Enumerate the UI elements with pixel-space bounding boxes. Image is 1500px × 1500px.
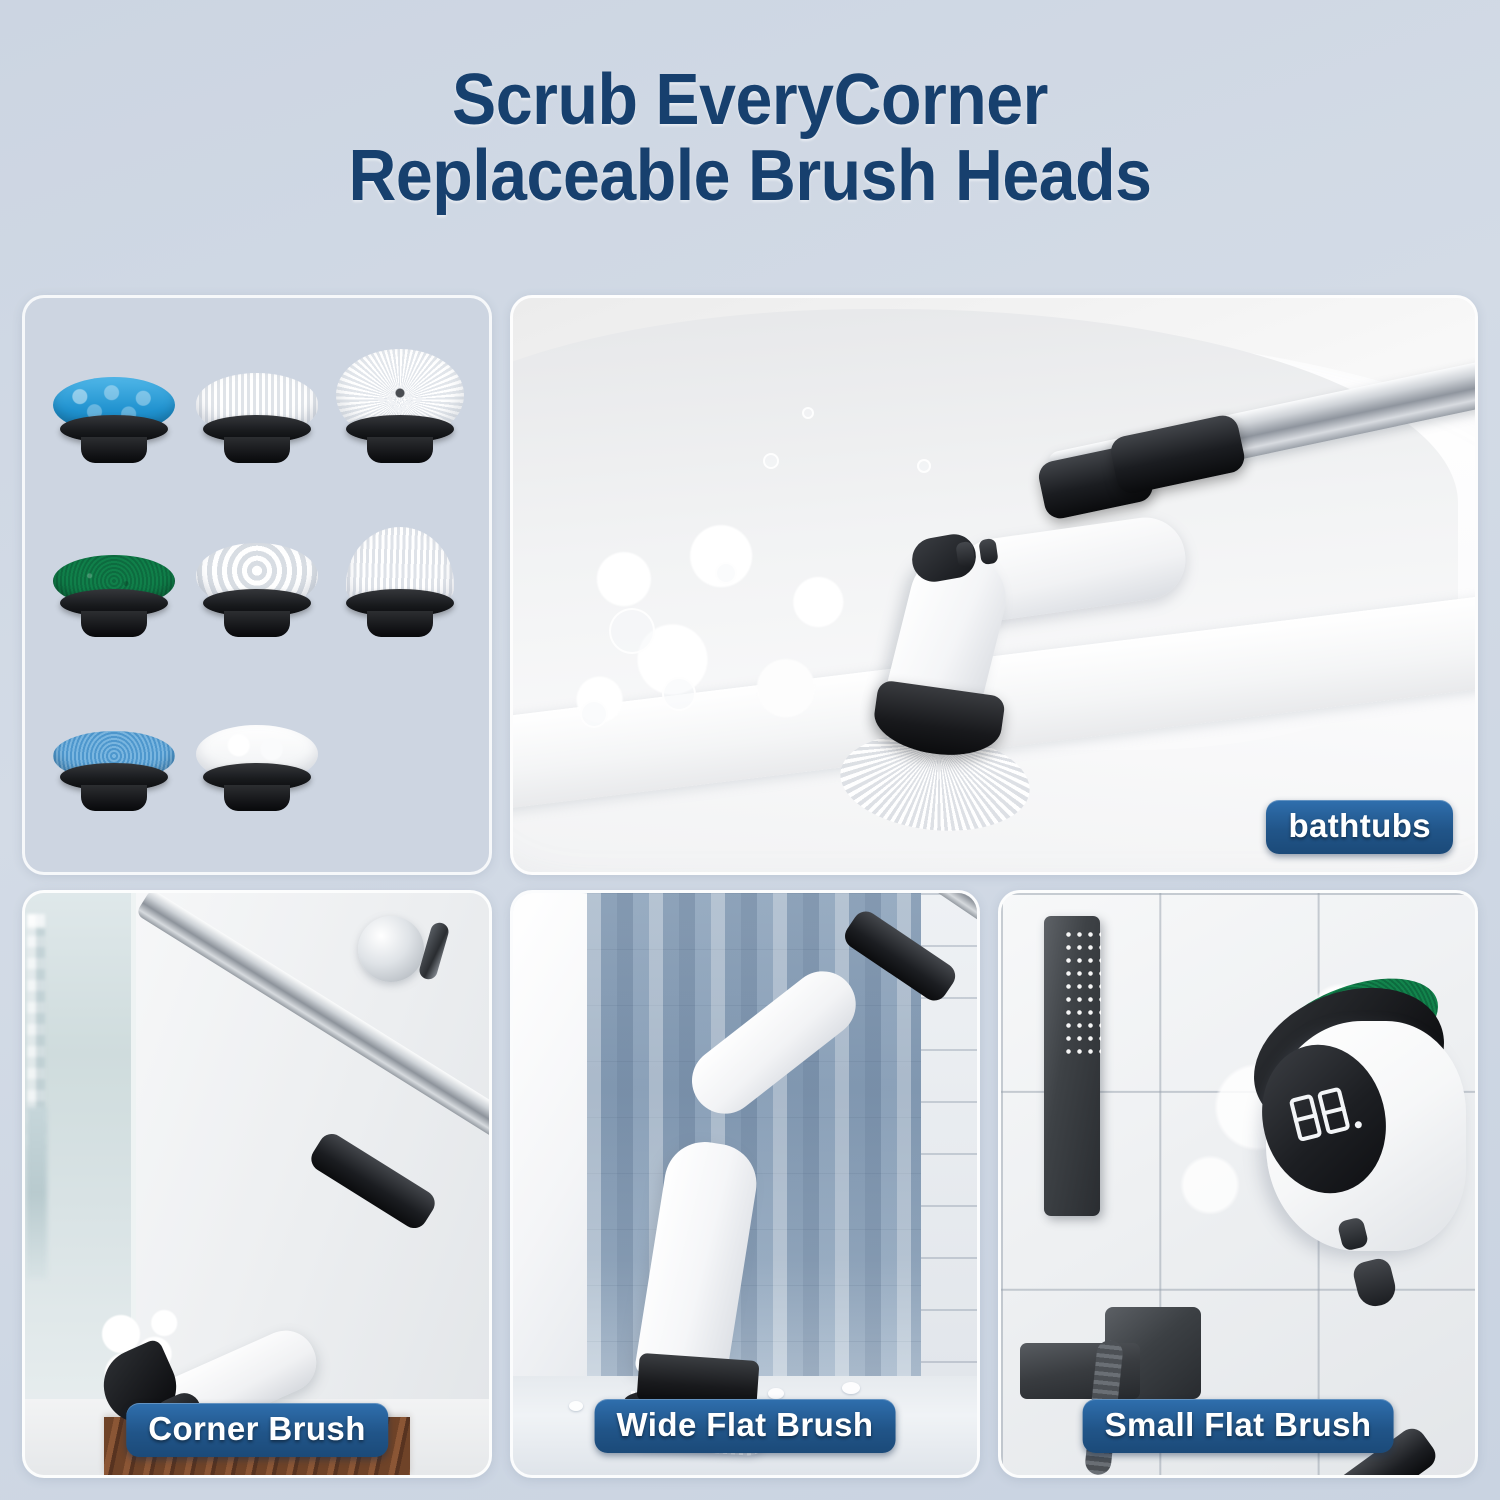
mount-hub <box>81 611 147 637</box>
foam-bubble <box>802 407 814 419</box>
mount-hub <box>367 611 433 637</box>
panel-wide-flat-brush: Wide Flat Brush <box>510 890 980 1478</box>
badge-corner-brush: Corner Brush <box>126 1403 388 1457</box>
foam-bubble <box>580 700 608 728</box>
chrome-valve-plate <box>358 916 424 982</box>
mount-hub <box>224 785 290 811</box>
page-title: Scrub EveryCorner Replaceable Brush Head… <box>0 62 1500 215</box>
headline-line-1: Scrub EveryCorner <box>60 62 1440 138</box>
badge-bathtubs: bathtubs <box>1266 800 1453 854</box>
brush-head-green-scour-pad <box>43 498 186 672</box>
mount-hub <box>224 437 290 463</box>
brush-head-white-spiral-brush <box>186 498 329 672</box>
brush-head-white-wool-pad <box>186 672 329 846</box>
brush-head-blue-microfiber-pad <box>43 672 186 846</box>
device-button-speed[interactable] <box>978 538 998 565</box>
foam-bubble <box>609 608 655 654</box>
segment-digit-2 <box>1316 1087 1350 1135</box>
badge-small-flat-brush: Small Flat Brush <box>1083 1399 1394 1453</box>
mount-hub <box>224 611 290 637</box>
panel-corner-brush: Corner Brush <box>22 890 492 1478</box>
window-lower-view <box>26 1107 47 1278</box>
brush-head-white-cone-brush <box>328 498 471 672</box>
segment-digit-1 <box>1288 1094 1322 1142</box>
shower-head-nozzle-holes <box>1063 928 1101 1056</box>
brush-head-white-flat-brush <box>186 324 329 498</box>
foam-bubble <box>763 453 779 469</box>
bathroom-wall <box>513 893 597 1382</box>
badge-wide-flat-brush: Wide Flat Brush <box>595 1399 896 1453</box>
brush-head-empty-slot <box>328 672 471 846</box>
foam-bubble <box>662 677 696 711</box>
foam-bubble <box>715 562 737 584</box>
mount-hub <box>367 437 433 463</box>
water-droplet <box>569 1401 583 1411</box>
brush-head-white-dome-brush <box>328 324 471 498</box>
segment-decimal-dot <box>1353 1121 1361 1129</box>
headline-line-2: Replaceable Brush Heads <box>60 138 1440 214</box>
water-droplet <box>842 1382 860 1394</box>
product-infographic: Scrub EveryCorner Replaceable Brush Head… <box>0 0 1500 1500</box>
mount-hub <box>81 785 147 811</box>
panel-brush-heads <box>22 295 492 875</box>
panel-bathtub: bathtubs <box>510 295 1478 875</box>
mount-hub <box>81 437 147 463</box>
brush-heads-grid <box>25 298 489 872</box>
panel-small-flat-brush: Small Flat Brush <box>998 890 1478 1478</box>
brush-head-blue-foam-pad <box>43 324 186 498</box>
foam-bubble <box>917 459 931 473</box>
